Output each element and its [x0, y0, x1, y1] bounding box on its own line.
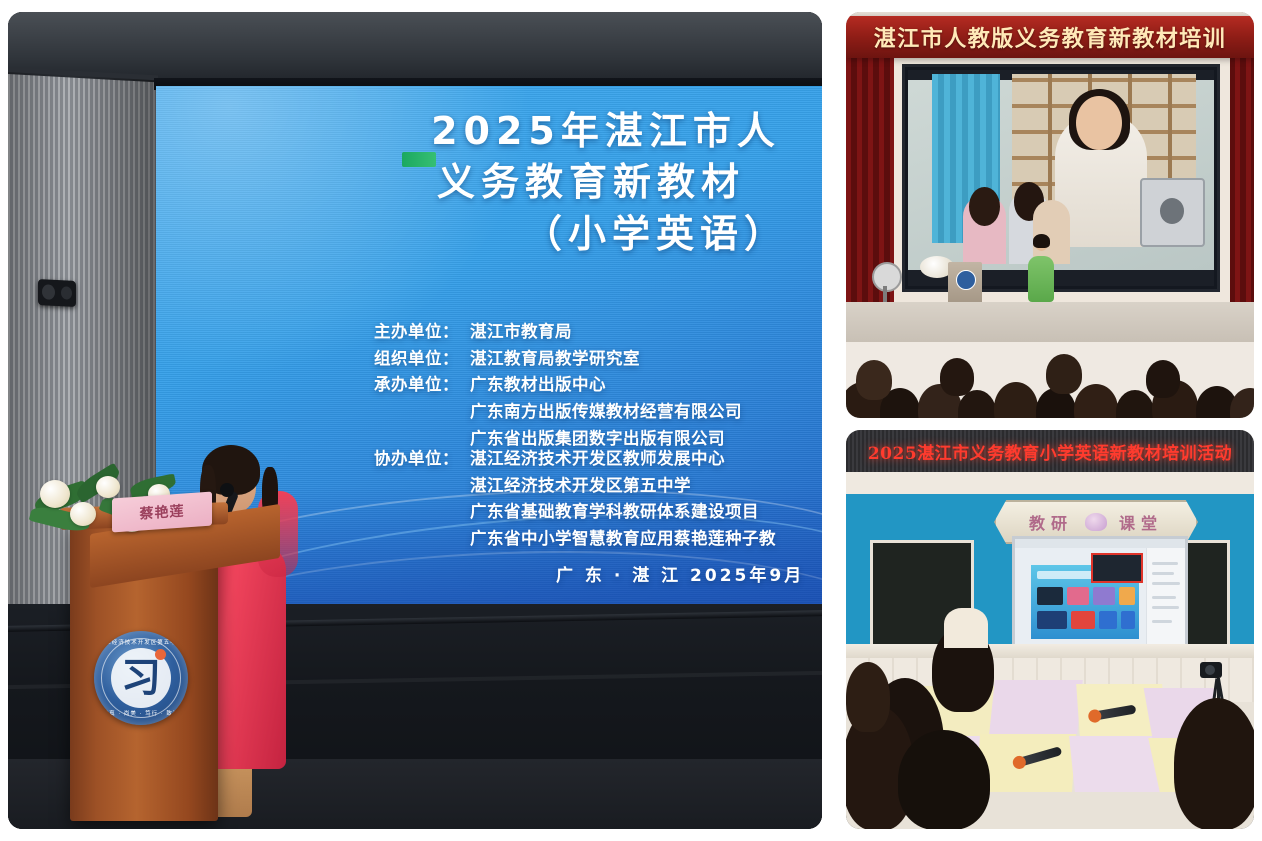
- video-content: [908, 70, 1214, 286]
- co-organizer-row: 广东省中小学智慧教育应用蔡艳莲种子教: [374, 526, 822, 553]
- co-organizer-row: 协办单位：湛江经济技术开发区教师发展中心: [374, 446, 822, 473]
- organizer-label: 组织单位：: [374, 346, 470, 373]
- classroom-sign-left-text: 教研: [1029, 510, 1073, 534]
- organizer-label: 主办单位：: [374, 319, 470, 346]
- auditorium-scene: 湛江市人教版义务教育新教材培训: [846, 12, 1254, 418]
- stage-banner-text: 湛江市人教版义务教育新教材培训: [874, 21, 1227, 53]
- attendee-back: [1174, 698, 1254, 829]
- slide-card: [1121, 611, 1135, 629]
- slide-card: [1099, 611, 1117, 629]
- emblem-top-text: 湛江经济技术开发区第五中学: [94, 638, 188, 646]
- audience-head: [994, 382, 1038, 418]
- flower-bloom: [70, 502, 96, 526]
- organizer-value: 广东南方出版传媒教材经营有限公司: [470, 402, 742, 421]
- flower-bloom: [40, 480, 70, 508]
- organizer-value: 湛江教育局教学研究室: [470, 349, 640, 368]
- organizer-row: 组织单位：湛江教育局教学研究室: [374, 346, 822, 373]
- audience-head: [1146, 360, 1180, 398]
- sidebar-line: [1152, 596, 1176, 599]
- organizer-list: 主办单位：湛江市教育局 组织单位：湛江教育局教学研究室 承办单位：广东教材出版中…: [374, 319, 822, 453]
- table-panel: [989, 680, 1083, 734]
- co-organizer-list: 协办单位：湛江经济技术开发区教师发展中心 湛江经济技术开发区第五中学 广东省基础…: [374, 446, 822, 553]
- co-organizer-row: 湛江经济技术开发区第五中学: [374, 473, 822, 500]
- green-highlight-mark: [402, 152, 436, 167]
- flower-bloom: [96, 476, 120, 498]
- organizer-label: 承办单位：: [374, 372, 470, 399]
- camera-icon: [1200, 662, 1222, 678]
- audience-head: [856, 360, 892, 400]
- name-placard: 蔡艳莲: [112, 492, 212, 533]
- organizer-row: 广东南方出版传媒教材经营有限公司: [374, 399, 822, 426]
- slide-title-line3: （小学英语）: [226, 209, 822, 260]
- emblem-bottom-text: 求真 · 尚美 · 笃行 · 致远: [94, 709, 188, 717]
- led-banner-text: 2025湛江市义务教育小学英语新教材培训活动: [868, 439, 1232, 464]
- slide-card: [1119, 587, 1135, 605]
- audience-head: [940, 358, 974, 396]
- classroom-scene: 2025湛江市义务教育小学英语新教材培训活动 教研 课堂: [846, 430, 1254, 829]
- floating-video-window: [1091, 553, 1143, 583]
- main-speaker-photo: 2025年湛江市人 义务教育新教材 （小学英语） 主办单位：湛江市教育局 组织单…: [8, 12, 822, 829]
- slide-title: 2025年湛江市人 义务教育新教材 （小学英语）: [226, 106, 822, 260]
- auditorium-hall: 2025年湛江市人 义务教育新教材 （小学英语） 主办单位：湛江市教育局 组织单…: [8, 12, 822, 829]
- microphone-head-icon: [220, 483, 234, 497]
- wooden-podium: 湛江经济技术开发区第五中学 习 求真 · 尚美 · 笃行 · 致远: [70, 521, 218, 821]
- slide-footer: 广 东 · 湛 江 2025年9月: [556, 561, 804, 586]
- slide-title-line2: 义务教育新教材: [226, 157, 822, 208]
- fan-head-icon: [872, 262, 902, 292]
- led-scroll-banner: 2025湛江市义务教育小学英语新教材培训活动: [846, 430, 1254, 472]
- placard-name: 蔡艳莲: [140, 500, 185, 523]
- podium-emblem-icon: [956, 270, 976, 290]
- organizer-value: 湛江市教育局: [470, 322, 572, 341]
- sidebar-line: [1152, 562, 1178, 565]
- interactive-smartboard: [1012, 536, 1188, 658]
- wall-speaker-icon: [38, 279, 76, 307]
- presenter-person: [1028, 234, 1054, 302]
- presenter-dress: [1028, 256, 1054, 302]
- co-organizer-value: 湛江经济技术开发区教师发展中心: [470, 449, 725, 468]
- sidebar-line: [1152, 572, 1174, 575]
- co-organizer-value: 广东省中小学智慧教育应用蔡艳莲种子教: [470, 529, 776, 548]
- organizer-row: 承办单位：广东教材出版中心: [374, 372, 822, 399]
- audience-rows: [846, 308, 1254, 418]
- co-organizer-label: 协办单位：: [374, 446, 470, 473]
- smartboard-sidebar: [1146, 548, 1185, 645]
- photo-collage: 2025年湛江市人 义务教育新教材 （小学英语） 主办单位：湛江市教育局 组织单…: [0, 0, 1262, 841]
- smartboard-titlebar: [1015, 539, 1185, 548]
- school-emblem: 湛江经济技术开发区第五中学 习 求真 · 尚美 · 笃行 · 致远: [94, 631, 188, 725]
- sidebar-line: [1152, 606, 1179, 609]
- auditorium-led-screen: [902, 64, 1220, 292]
- video-teacher-head: [1076, 96, 1122, 150]
- auditorium-photo: 湛江市人教版义务教育新教材培训: [846, 12, 1254, 418]
- co-organizer-value: 湛江经济技术开发区第五中学: [470, 476, 691, 495]
- video-device: [1140, 178, 1205, 247]
- slide-title-bar: [1037, 571, 1097, 579]
- slide-card: [1067, 587, 1089, 605]
- co-organizer-row: 广东省基础教育学科教研体系建设项目: [374, 499, 822, 526]
- audience-head: [1116, 390, 1154, 418]
- stage-banner: 湛江市人教版义务教育新教材培训: [846, 16, 1254, 58]
- slide-title-line1: 2025年湛江市人: [226, 106, 822, 157]
- organizer-value: 广东教材出版中心: [470, 375, 606, 394]
- slide-card: [1093, 587, 1115, 605]
- organizer-row: 主办单位：湛江市教育局: [374, 319, 822, 346]
- slide-card: [1037, 587, 1063, 605]
- teacher-blouse: [944, 608, 988, 648]
- attendee-back: [846, 662, 890, 732]
- slide-card: [1037, 611, 1067, 629]
- video-student-1-head: [969, 187, 1000, 226]
- presenter-hair: [1033, 234, 1050, 248]
- slide-card: [1071, 611, 1095, 629]
- sidebar-line: [1152, 620, 1172, 623]
- co-organizer-value: 广东省基础教育学科教研体系建设项目: [470, 502, 759, 521]
- audience-head: [1074, 384, 1118, 418]
- audience-head: [1046, 354, 1082, 394]
- emblem-glyph: 习: [121, 658, 161, 698]
- classroom-sign-right-text: 课堂: [1119, 510, 1163, 534]
- audience-head: [1230, 388, 1254, 418]
- sign-badge-icon: [1085, 513, 1107, 531]
- classroom-photo: 2025湛江市义务教育小学英语新教材培训活动 教研 课堂: [846, 430, 1254, 829]
- attendee-back: [898, 730, 990, 829]
- sidebar-line: [1152, 582, 1180, 585]
